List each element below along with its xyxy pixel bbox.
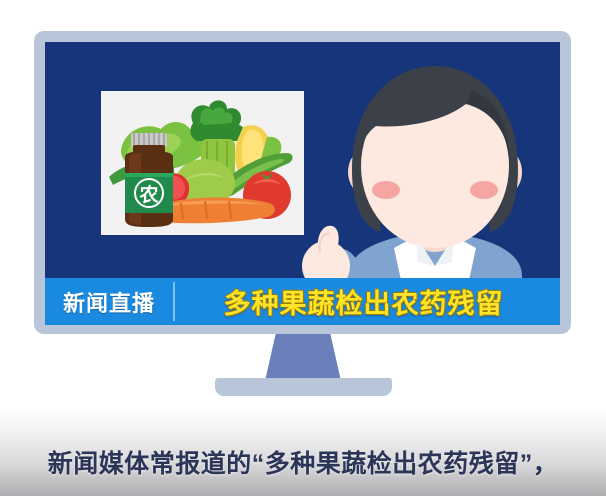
monitor-frame: 农	[34, 31, 571, 334]
bottle-label-text: 农	[138, 183, 158, 206]
ticker-headline: 多种果蔬检出农药残留	[175, 278, 560, 325]
scene-root: 农	[0, 0, 606, 496]
monitor-stand-base	[215, 378, 392, 396]
ticker-label-live: 新闻直播	[45, 278, 173, 325]
broadcast-photo-panel: 农	[101, 91, 304, 235]
news-ticker-bar: 新闻直播 多种果蔬检出农药残留	[45, 278, 560, 325]
monitor-screen: 农	[45, 42, 560, 325]
presenter-figure	[290, 54, 560, 294]
subtitle-caption: 新闻媒体常报道的“多种果蔬检出农药残留”，	[0, 444, 606, 480]
monitor-stand-neck	[265, 334, 341, 381]
